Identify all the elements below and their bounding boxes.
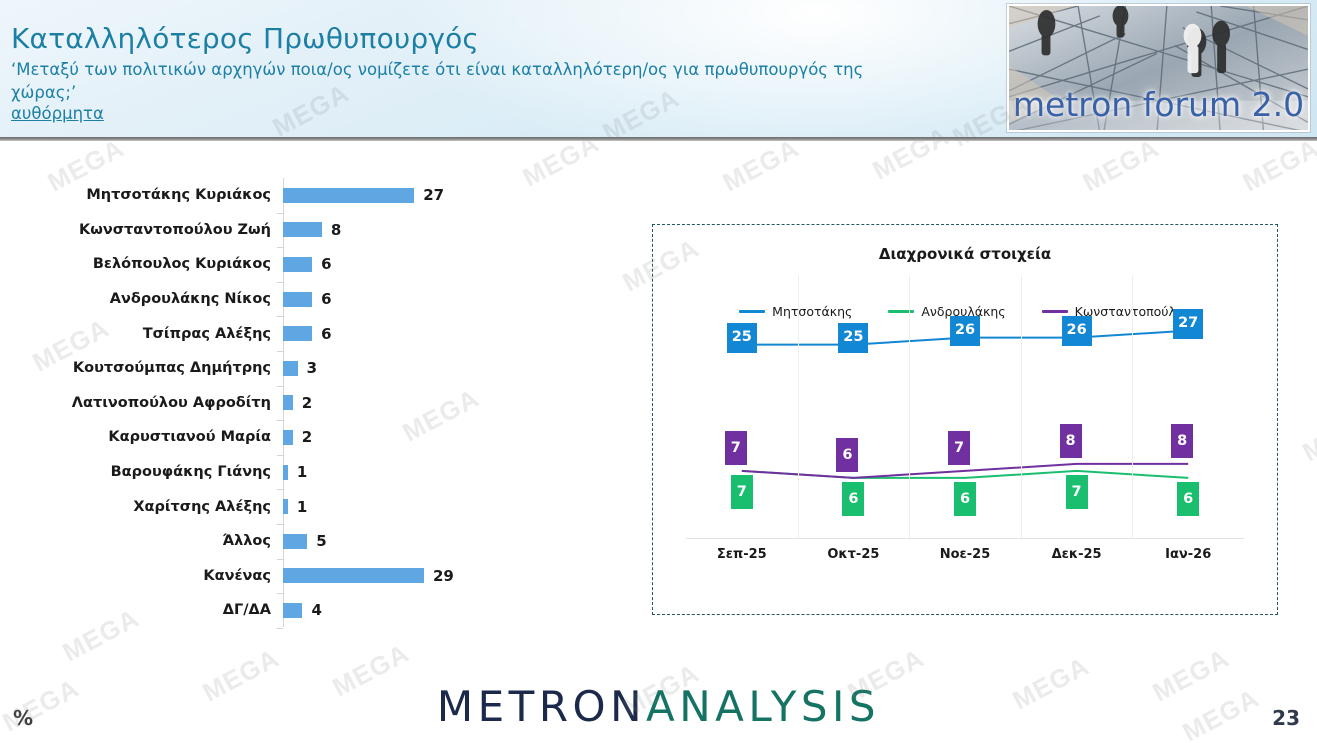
bar-row: Καρυστιανού Μαρία2	[60, 420, 620, 455]
bar-row: Κανένας29	[60, 559, 620, 594]
bar-category-label: Άλλος	[60, 533, 283, 549]
brand-analysis: ANALYSIS	[646, 682, 880, 731]
axis-tick	[277, 213, 283, 214]
bar-value-label: 6	[321, 325, 331, 343]
bar-track: 1	[283, 489, 620, 524]
bar	[283, 257, 312, 272]
bar-value-label: 1	[297, 498, 307, 516]
bar-track: 6	[283, 282, 620, 317]
data-point-label: 27	[1173, 309, 1203, 339]
bar-value-label: 6	[321, 255, 331, 273]
brand-metron: METRON	[437, 682, 646, 731]
x-axis-label: Σεπ-25	[687, 547, 797, 562]
page-title: Καταλληλότερος Πρωθυπουργός	[11, 22, 479, 55]
axis-tick	[277, 455, 283, 456]
bar-category-label: ΔΓ/ΔΑ	[60, 602, 283, 618]
bar-track: 1	[283, 455, 620, 490]
bar-category-label: Λατινοπούλου Αφροδίτη	[60, 395, 283, 411]
bar	[283, 534, 307, 549]
bar-track: 29	[283, 559, 620, 594]
trend-x-axis	[686, 538, 1244, 539]
data-point-label: 6	[1177, 482, 1199, 516]
bar-category-label: Κωνσταντοπούλου Ζωή	[60, 222, 283, 238]
bar	[283, 326, 312, 341]
bar-category-label: Μητσοτάκης Κυριάκος	[60, 187, 283, 203]
x-axis-label: Ιαν-26	[1133, 547, 1243, 562]
series-line	[742, 464, 1188, 478]
data-point-label: 6	[842, 482, 864, 516]
bar	[283, 465, 288, 480]
bar-value-label: 4	[311, 601, 321, 619]
bar-track: 6	[283, 247, 620, 282]
page-subtitle: ‘Μεταξύ των πολιτικών αρχηγών ποια/ος νο…	[11, 58, 921, 104]
bar	[283, 292, 312, 307]
data-point-label: 7	[731, 475, 753, 509]
spontaneous-link[interactable]: αυθόρμητα	[11, 104, 104, 123]
bar	[283, 222, 322, 237]
bar-category-label: Κανένας	[60, 568, 283, 584]
data-point-label: 25	[838, 323, 868, 353]
bar-track: 27	[283, 178, 620, 213]
bar	[283, 603, 302, 618]
data-point-label: 26	[950, 316, 980, 346]
data-point-label: 7	[948, 431, 970, 465]
axis-tick	[277, 559, 283, 560]
bar-track: 2	[283, 386, 620, 421]
metron-forum-logo: metron forum 2.0	[1007, 4, 1310, 132]
watermark: MEGA	[718, 133, 805, 199]
bar-category-label: Βαρουφάκης Γιάνης	[60, 464, 283, 480]
bar-value-label: 2	[302, 394, 312, 412]
axis-tick	[277, 628, 283, 629]
x-axis-label: Οκτ-25	[798, 547, 908, 562]
data-point-label: 7	[1066, 475, 1088, 509]
bar-row: ΔΓ/ΔΑ4	[60, 593, 620, 628]
watermark: MEGA	[1078, 133, 1165, 199]
data-point-label: 7	[725, 431, 747, 465]
bar-value-label: 29	[433, 567, 454, 585]
metron-analysis-logo: METRONANALYSIS	[0, 682, 1317, 731]
data-point-label: 26	[1062, 316, 1092, 346]
header-divider	[0, 137, 1317, 141]
bar-row: Ανδρουλάκης Νίκος6	[60, 282, 620, 317]
grid-line	[1132, 275, 1133, 538]
bar-row: Χαρίτσης Αλέξης1	[60, 489, 620, 524]
trend-chart-title: Διαχρονικά στοιχεία	[653, 245, 1277, 263]
watermark: MEGA	[1298, 403, 1317, 469]
bar-category-label: Καρυστιανού Μαρία	[60, 429, 283, 445]
bar-track: 8	[283, 213, 620, 248]
bar-row: Κωνσταντοπούλου Ζωή8	[60, 213, 620, 248]
axis-tick	[277, 247, 283, 248]
data-point-label: 8	[1060, 424, 1082, 458]
bar-track: 5	[283, 524, 620, 559]
page-number: 23	[1272, 706, 1300, 730]
bar-track: 6	[283, 316, 620, 351]
bar-category-label: Κουτσούμπας Δημήτρης	[60, 360, 283, 376]
bar	[283, 361, 298, 376]
bar-row: Κουτσούμπας Δημήτρης3	[60, 351, 620, 386]
axis-tick	[277, 316, 283, 317]
axis-tick	[277, 351, 283, 352]
axis-tick	[277, 593, 283, 594]
bar-value-label: 6	[321, 290, 331, 308]
bar-track: 3	[283, 351, 620, 386]
bar-track: 4	[283, 593, 620, 628]
grid-line	[1021, 275, 1022, 538]
bar-value-label: 1	[297, 463, 307, 481]
trend-plot-area: Σεπ-25Οκτ-25Νοε-25Δεκ-25Ιαν-262525262627…	[686, 275, 1244, 575]
data-point-label: 25	[727, 323, 757, 353]
bar	[283, 395, 293, 410]
bar-category-label: Χαρίτσης Αλέξης	[60, 499, 283, 515]
data-point-label: 8	[1171, 424, 1193, 458]
bar-row: Βελόπουλος Κυριάκος6	[60, 247, 620, 282]
trend-chart-panel: Διαχρονικά στοιχεία ΜητσοτάκηςΑνδρουλάκη…	[652, 224, 1278, 615]
slide-header: Καταλληλότερος Πρωθυπουργός ‘Μεταξύ των …	[0, 0, 1317, 137]
bar-value-label: 8	[331, 221, 341, 239]
bar-category-label: Τσίπρας Αλέξης	[60, 326, 283, 342]
bar	[283, 568, 424, 583]
bar-row: Βαρουφάκης Γιάνης1	[60, 455, 620, 490]
axis-tick	[277, 282, 283, 283]
bar-value-label: 2	[302, 428, 312, 446]
bar	[283, 188, 414, 203]
logo-wordmark: metron forum 2.0	[1009, 85, 1308, 124]
data-point-label: 6	[836, 438, 858, 472]
data-point-label: 6	[954, 482, 976, 516]
axis-tick	[277, 420, 283, 421]
bar-track: 2	[283, 420, 620, 455]
bar-row: Τσίπρας Αλέξης6	[60, 316, 620, 351]
bar-value-label: 27	[423, 186, 444, 204]
bar	[283, 499, 288, 514]
bar-row: Άλλος5	[60, 524, 620, 559]
bar-value-label: 5	[316, 532, 326, 550]
axis-tick	[277, 489, 283, 490]
bar-category-label: Ανδρουλάκης Νίκος	[60, 291, 283, 307]
x-axis-label: Νοε-25	[910, 547, 1020, 562]
bar-chart-rows: Μητσοτάκης Κυριάκος27Κωνσταντοπούλου Ζωή…	[60, 178, 620, 628]
percent-unit-label: %	[13, 706, 33, 730]
grid-line	[798, 275, 799, 538]
bar-row: Μητσοτάκης Κυριάκος27	[60, 178, 620, 213]
axis-tick	[277, 386, 283, 387]
grid-line	[909, 275, 910, 538]
x-axis-label: Δεκ-25	[1022, 547, 1132, 562]
bar	[283, 430, 293, 445]
watermark: MEGA	[1238, 133, 1317, 199]
bar-chart: Μητσοτάκης Κυριάκος27Κωνσταντοπούλου Ζωή…	[60, 178, 620, 638]
axis-tick	[277, 524, 283, 525]
bar-value-label: 3	[307, 359, 317, 377]
bar-category-label: Βελόπουλος Κυριάκος	[60, 256, 283, 272]
bar-row: Λατινοπούλου Αφροδίτη2	[60, 386, 620, 421]
